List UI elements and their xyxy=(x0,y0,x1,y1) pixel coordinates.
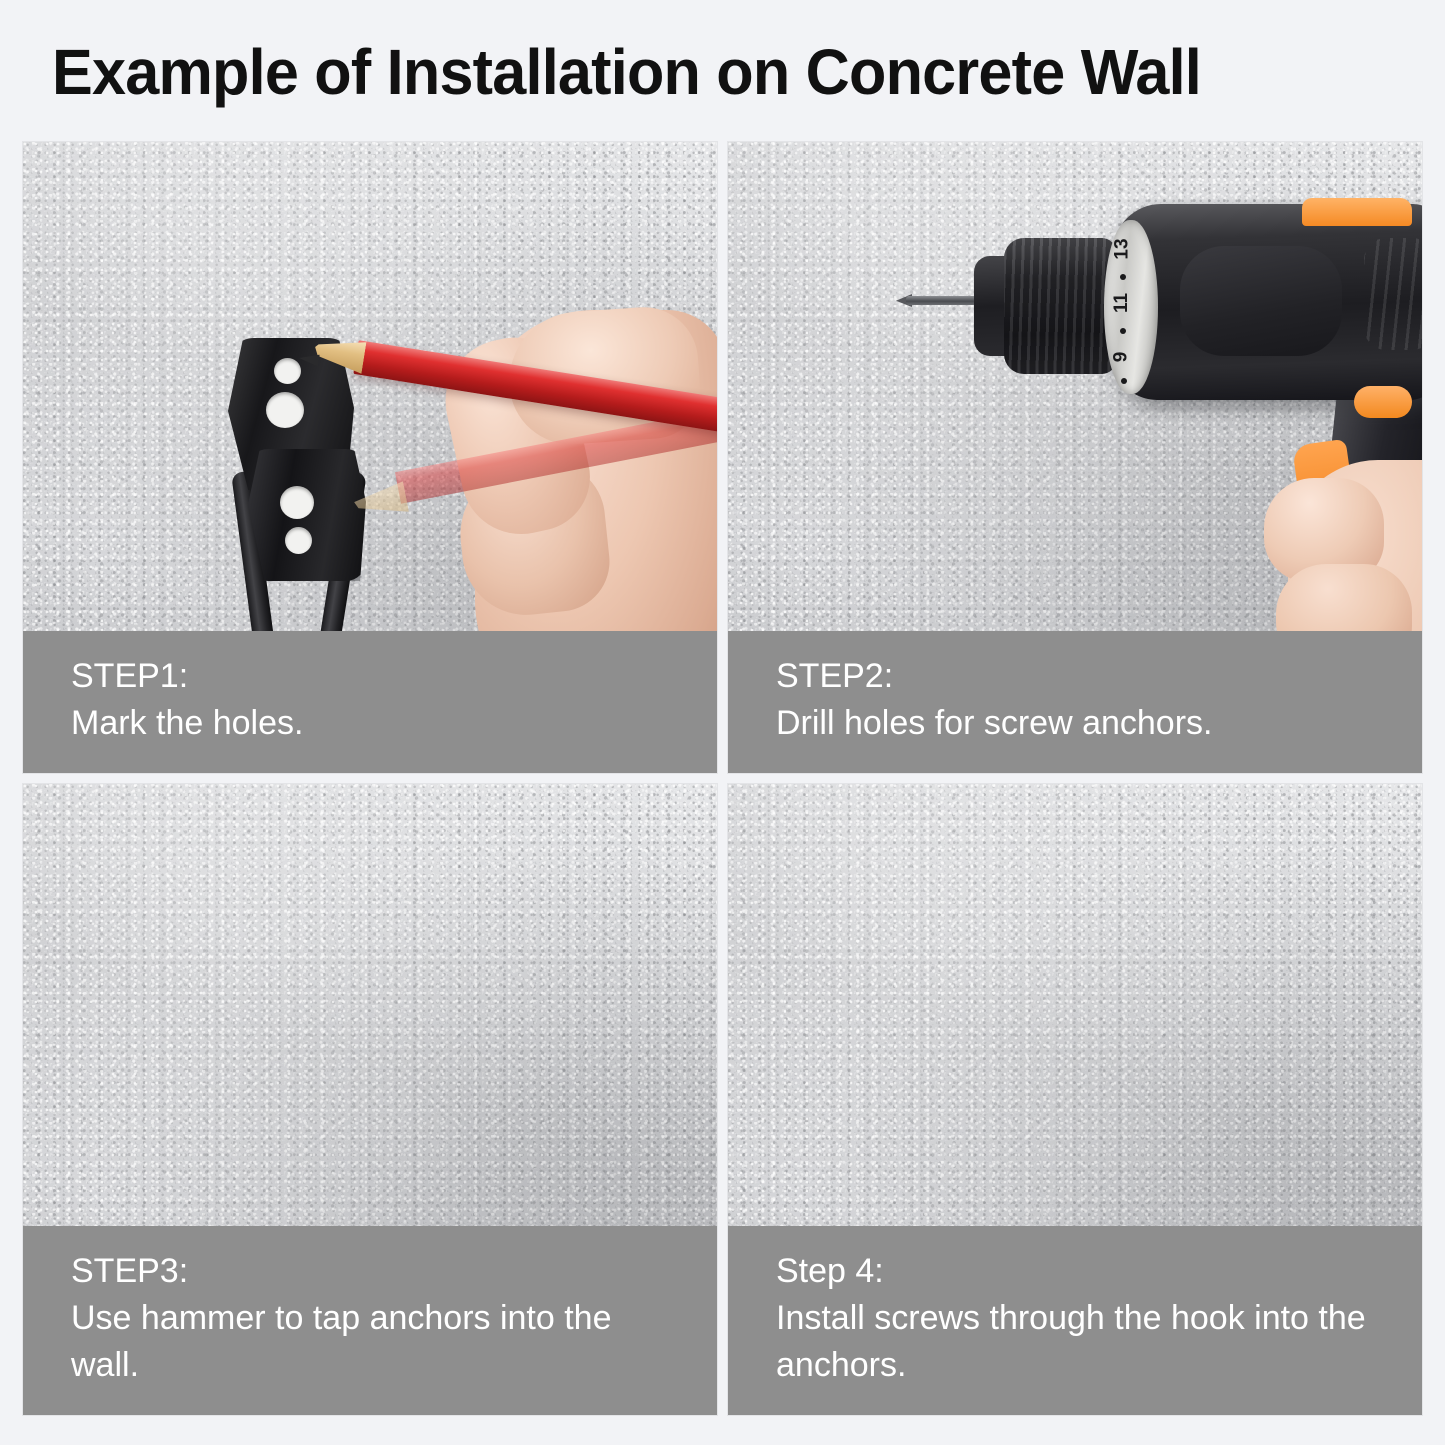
step-body: Install screws through the hook into the… xyxy=(776,1295,1376,1389)
step-panel-2: 13 11 9 STEP2: Drill holes for screw anc… xyxy=(727,141,1423,774)
torque-collar-dot xyxy=(1120,328,1126,334)
step-panel-3: STEP3: Use hammer to tap anchors into th… xyxy=(22,783,718,1416)
torque-collar-number-11: 11 xyxy=(1111,293,1133,313)
step-label: STEP3: xyxy=(71,1248,717,1295)
bracket-mounting-hole xyxy=(266,392,304,428)
step-panel-1: STEP1: Mark the holes. xyxy=(22,141,718,774)
step-body: Use hammer to tap anchors into the wall. xyxy=(71,1295,671,1389)
step-body: Mark the holes. xyxy=(71,700,671,747)
drill-top-orange-accent xyxy=(1302,198,1412,226)
step-body: Drill holes for screw anchors. xyxy=(776,700,1376,747)
drill-vent-slots xyxy=(1364,238,1423,350)
torque-collar-dot xyxy=(1121,378,1127,384)
installation-infographic: Example of Installation on Concrete Wall xyxy=(0,0,1445,1445)
steps-grid: STEP1: Mark the holes. 13 11 9 xyxy=(22,141,1423,1416)
bracket-mounting-hole xyxy=(274,358,301,384)
drill-forward-reverse-switch xyxy=(1354,386,1412,418)
torque-collar-number-13: 13 xyxy=(1112,238,1134,259)
step-caption-2: STEP2: Drill holes for screw anchors. xyxy=(728,631,1422,773)
step-caption-4: Step 4: Install screws through the hook … xyxy=(728,1226,1422,1415)
drill-chuck xyxy=(1004,238,1116,374)
step-panel-4: WE Step 4: Install screws through the ho… xyxy=(727,783,1423,1416)
bracket-mounting-hole xyxy=(285,527,312,554)
bracket-mounting-hole xyxy=(280,486,314,519)
drill-bit xyxy=(906,296,982,305)
page-title: Example of Installation on Concrete Wall xyxy=(52,32,1336,112)
drill-body-inset-panel xyxy=(1180,246,1342,356)
step-caption-1: STEP1: Mark the holes. xyxy=(23,631,717,773)
step-label: STEP1: xyxy=(71,653,717,700)
step-caption-3: STEP3: Use hammer to tap anchors into th… xyxy=(23,1226,717,1415)
torque-collar-dot xyxy=(1120,274,1126,280)
step-label: STEP2: xyxy=(776,653,1422,700)
step-label: Step 4: xyxy=(776,1248,1422,1295)
torque-collar-number-9: 9 xyxy=(1110,352,1132,363)
